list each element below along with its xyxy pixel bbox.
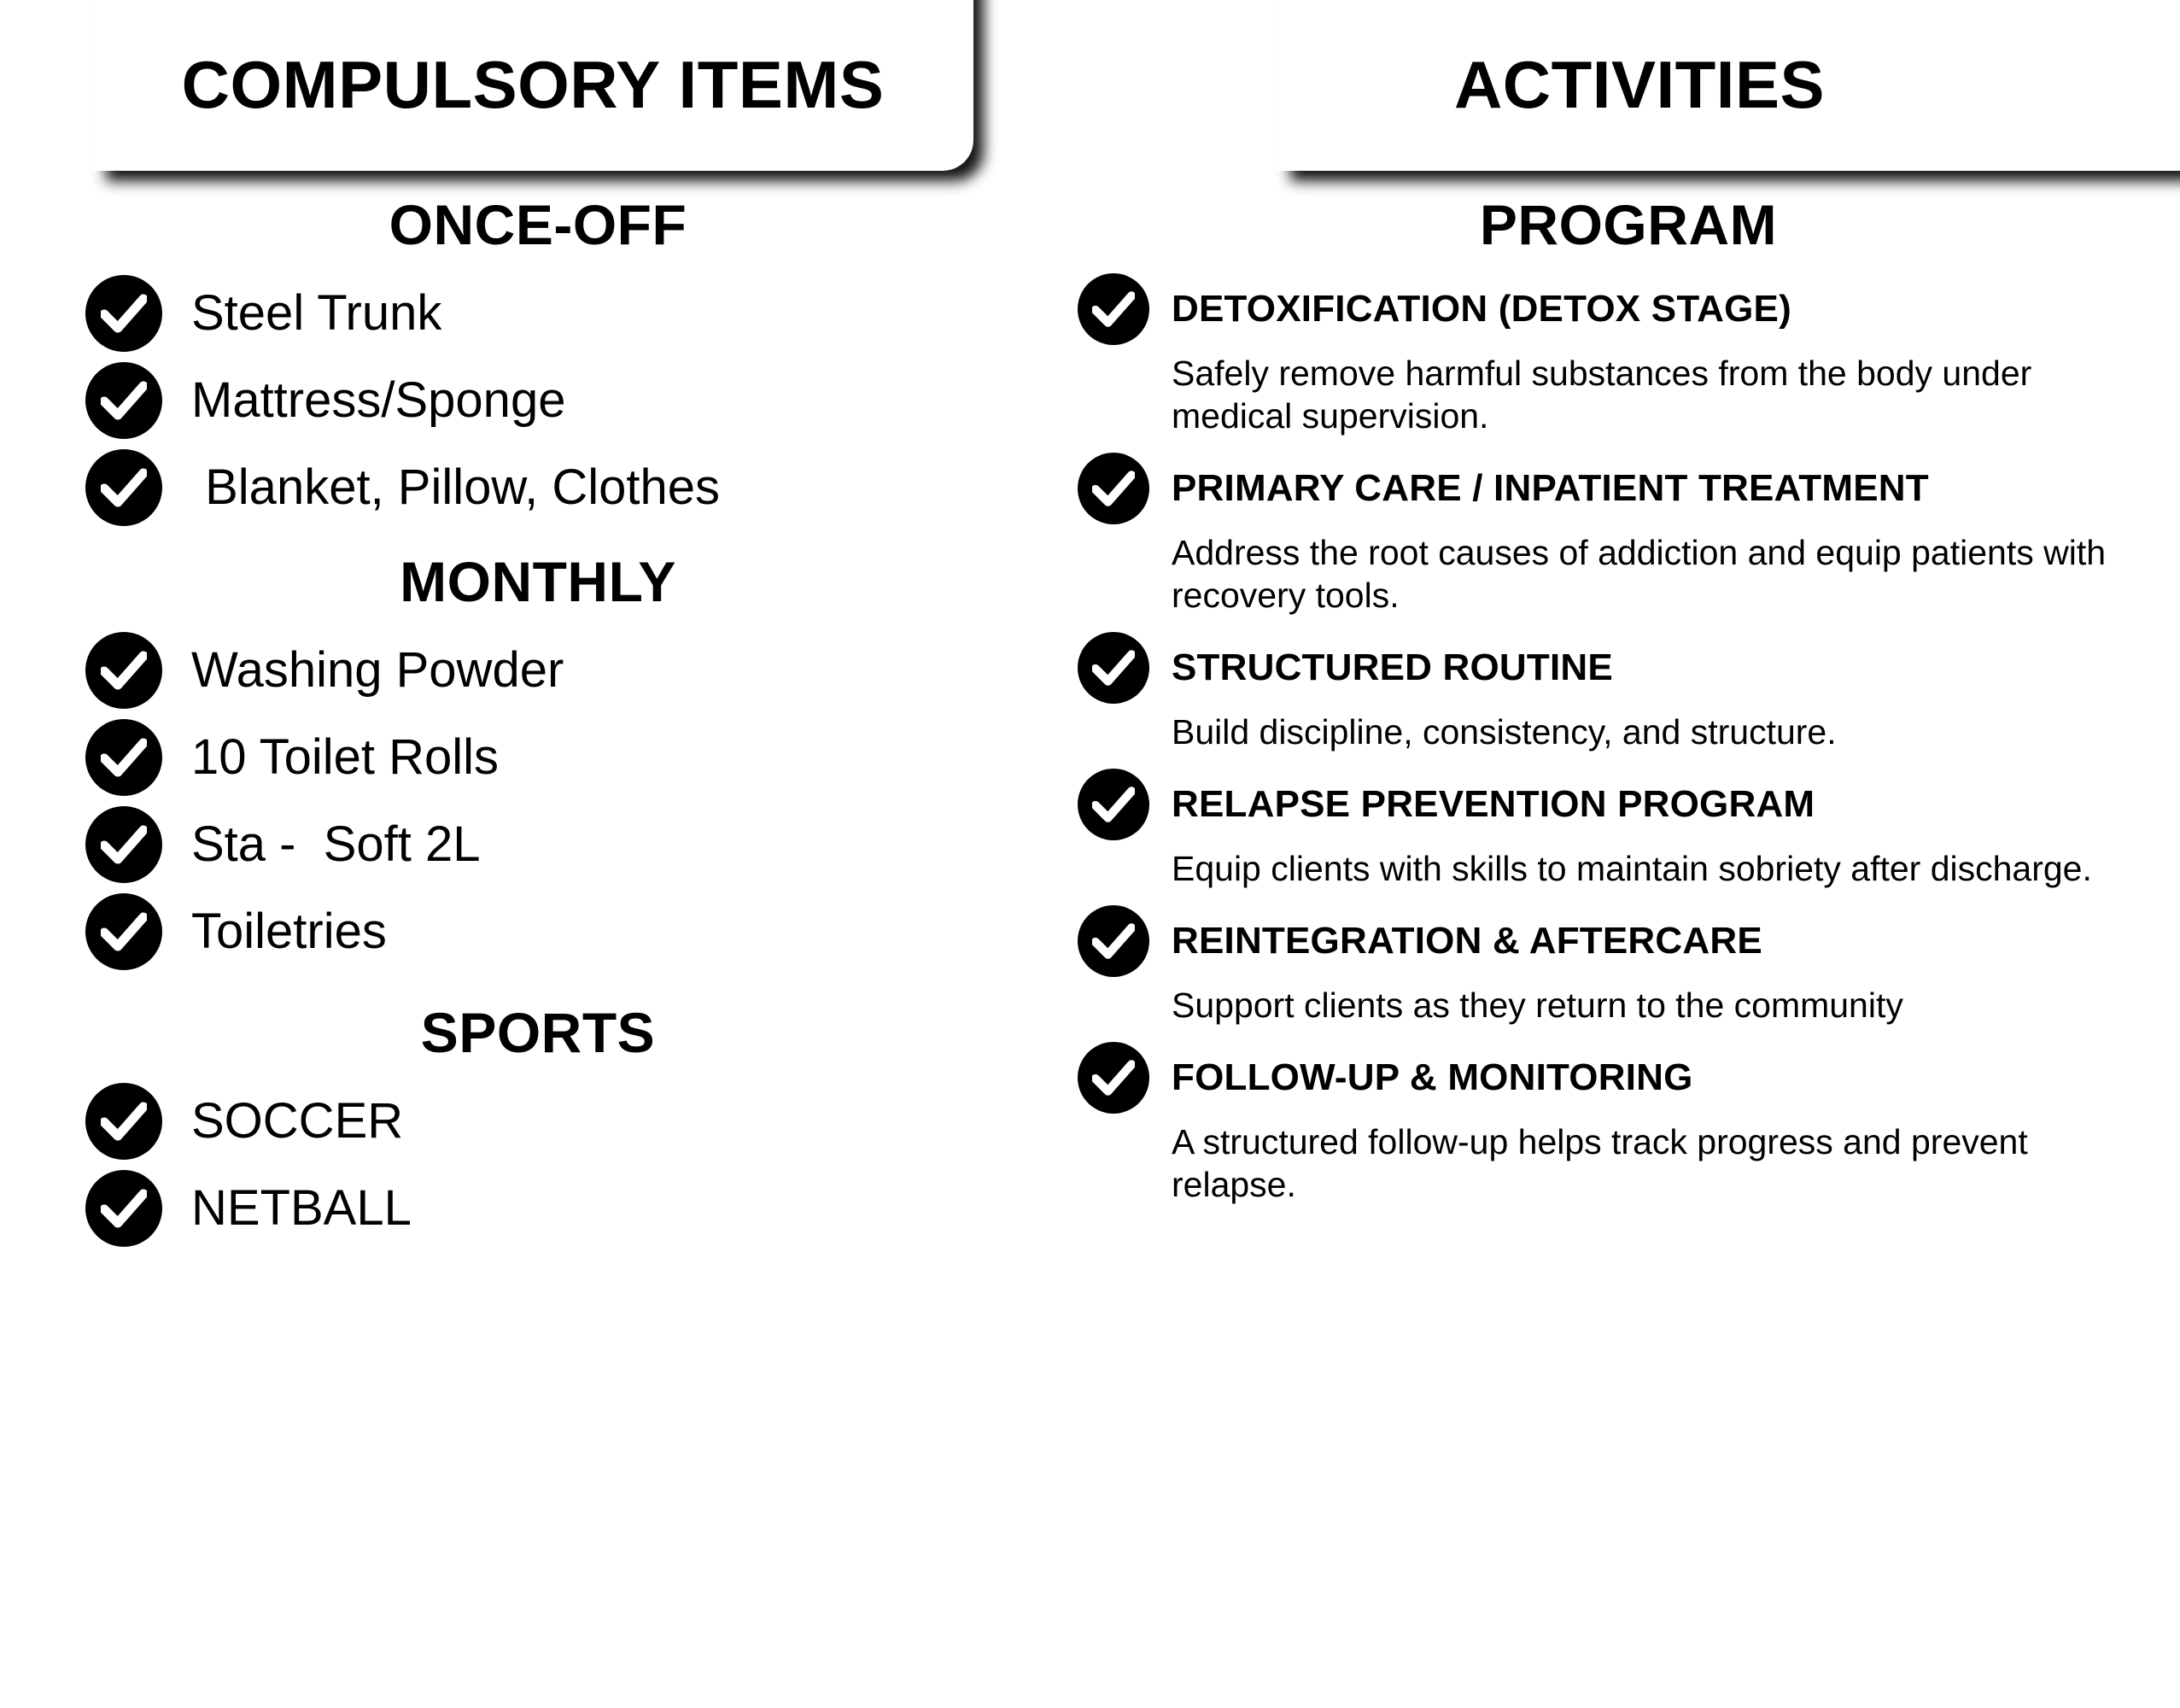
program-item-header: PRIMARY CARE / INPATIENT TREATMENT [1078,453,2179,524]
list-item-label: Toiletries [191,906,387,958]
program-item-header: RELAPSE PREVENTION PROGRAM [1078,769,2179,840]
check-icon [1078,273,1149,345]
program-item: REINTEGRATION & AFTERCARE Support client… [1078,905,2179,1027]
list-item: 10 Toilet Rolls [85,719,991,796]
check-icon [1078,769,1149,840]
program-item: FOLLOW-UP & MONITORING A structured foll… [1078,1042,2179,1206]
program-item-title: REINTEGRATION & AFTERCARE [1172,921,1762,961]
program-item-description: Build discipline, consistency, and struc… [1172,711,2128,753]
check-icon [85,1083,162,1160]
program-item: DETOXIFICATION (DETOX STAGE) Safely remo… [1078,273,2179,437]
once-off-list: Steel Trunk Mattress/Sponge Blanket, Pil… [85,275,991,526]
list-item-label: Washing Powder [191,645,564,697]
program-item-header: STRUCTURED ROUTINE [1078,632,2179,704]
program-item: RELAPSE PREVENTION PROGRAM Equip clients… [1078,769,2179,890]
list-item: Blanket, Pillow, Clothes [85,449,991,526]
program-item-title: STRUCTURED ROUTINE [1172,648,1613,687]
section-heading-sports: SPORTS [85,1004,991,1061]
program-item: STRUCTURED ROUTINE Build discipline, con… [1078,632,2179,753]
check-icon [1078,632,1149,704]
check-icon [1078,453,1149,524]
list-item: Mattress/Sponge [85,362,991,439]
list-item: Washing Powder [85,632,991,709]
program-item-description: Support clients as they return to the co… [1172,984,2128,1027]
program-item-title: RELAPSE PREVENTION PROGRAM [1172,785,1815,824]
check-icon [85,719,162,796]
check-icon [1078,905,1149,977]
check-icon [85,1170,162,1247]
program-item-header: REINTEGRATION & AFTERCARE [1078,905,2179,977]
check-icon [85,893,162,970]
list-item-label: Sta - Soft 2L [191,819,481,871]
list-item: Toiletries [85,893,991,970]
section-heading-once-off: ONCE-OFF [85,196,991,253]
program-item-title: PRIMARY CARE / INPATIENT TREATMENT [1172,469,1929,508]
list-item: Steel Trunk [85,275,991,352]
sports-list: SOCCER NETBALL [85,1083,991,1247]
banner-compulsory-items: COMPULSORY ITEMS [92,0,973,171]
poster-canvas: COMPULSORY ITEMS ACTIVITIES ONCE-OFF Ste… [0,0,2180,1708]
program-item: PRIMARY CARE / INPATIENT TREATMENT Addre… [1078,453,2179,617]
program-item-title: DETOXIFICATION (DETOX STAGE) [1172,290,1791,329]
program-item-header: DETOXIFICATION (DETOX STAGE) [1078,273,2179,345]
compulsory-items-column: ONCE-OFF Steel Trunk Mattress/Sponge Bla… [85,196,991,1257]
banner-activities-title: ACTIVITIES [1454,19,2055,118]
program-item-description: A structured follow-up helps track progr… [1172,1120,2128,1206]
list-item-label: SOCCER [191,1096,403,1148]
program-item-description: Equip clients with skills to maintain so… [1172,847,2128,890]
check-icon [85,275,162,352]
list-item-label: 10 Toilet Rolls [191,732,499,784]
list-item: Sta - Soft 2L [85,806,991,883]
check-icon [85,806,162,883]
check-icon [85,632,162,709]
program-item-description: Safely remove harmful substances from th… [1172,352,2128,437]
check-icon [85,449,162,526]
monthly-list: Washing Powder 10 Toilet Rolls Sta - Sof… [85,632,991,970]
section-heading-monthly: MONTHLY [85,553,991,610]
list-item-label: Steel Trunk [191,288,441,340]
activities-column: PROGRAM DETOXIFICATION (DETOX STAGE) Saf… [1078,196,2179,1221]
banner-activities: ACTIVITIES [1277,0,2180,171]
program-item-description: Address the root causes of addiction and… [1172,531,2128,617]
program-item-header: FOLLOW-UP & MONITORING [1078,1042,2179,1114]
check-icon [1078,1042,1149,1114]
section-heading-program: PROGRAM [1078,196,2179,253]
list-item-label: Mattress/Sponge [191,375,565,427]
check-icon [85,362,162,439]
list-item-label: NETBALL [191,1183,412,1235]
program-item-title: FOLLOW-UP & MONITORING [1172,1058,1693,1097]
list-item: SOCCER [85,1083,991,1160]
list-item: NETBALL [85,1170,991,1247]
banner-compulsory-items-title: COMPULSORY ITEMS [182,19,885,118]
list-item-label: Blanket, Pillow, Clothes [191,462,720,514]
